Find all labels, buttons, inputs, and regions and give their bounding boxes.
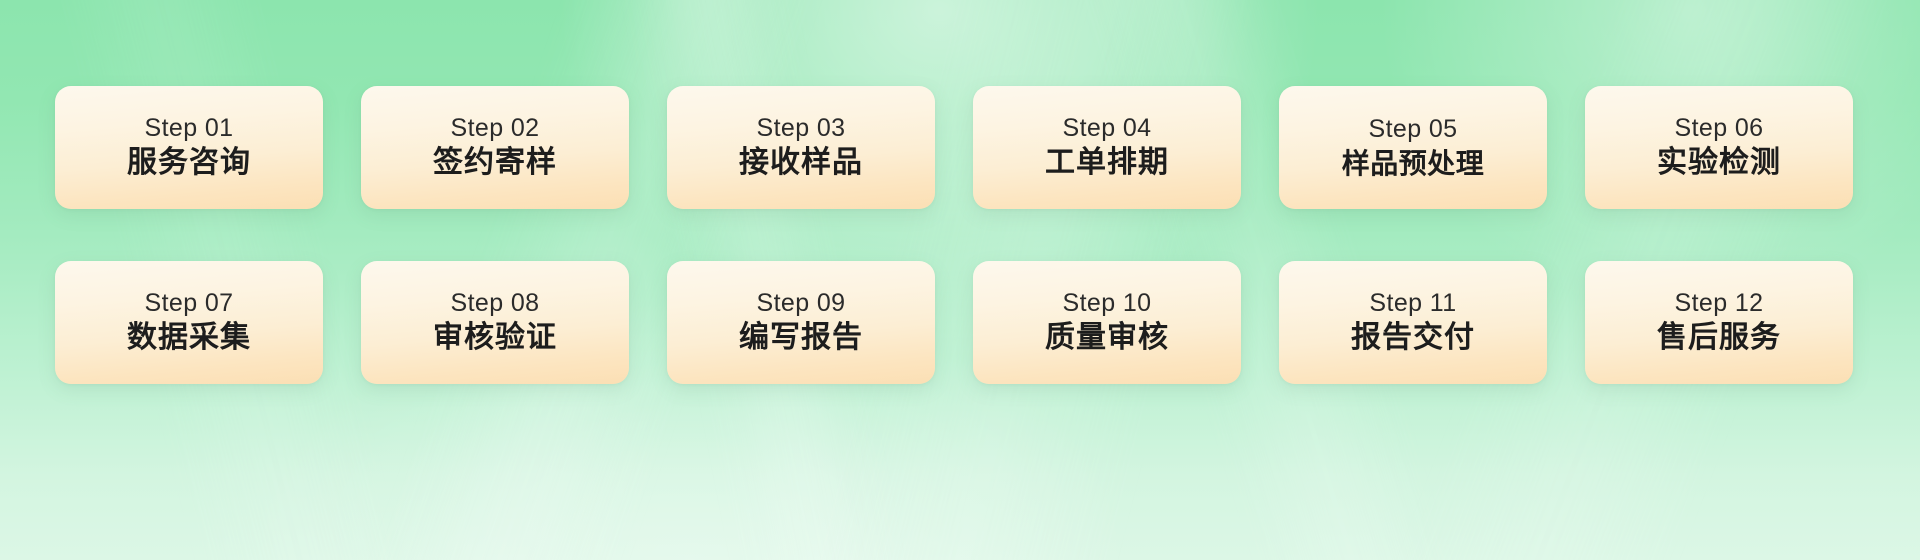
step-number: Step 09 — [757, 289, 846, 318]
step-label: 签约寄样 — [433, 145, 557, 181]
step-number: Step 03 — [757, 114, 846, 143]
step-number: Step 08 — [451, 289, 540, 318]
step-card-4[interactable]: Step 04工单排期 — [973, 86, 1241, 209]
step-label: 接收样品 — [739, 145, 863, 181]
step-card-11[interactable]: Step 11报告交付 — [1279, 261, 1547, 384]
step-label: 样品预处理 — [1342, 147, 1485, 181]
step-label: 数据采集 — [127, 320, 251, 356]
step-number: Step 05 — [1369, 115, 1458, 144]
step-card-3[interactable]: Step 03接收样品 — [667, 86, 935, 209]
step-number: Step 10 — [1063, 289, 1152, 318]
step-number: Step 01 — [145, 114, 234, 143]
step-card-12[interactable]: Step 12售后服务 — [1585, 261, 1853, 384]
step-card-1[interactable]: Step 01服务咨询 — [55, 86, 323, 209]
step-number: Step 11 — [1369, 289, 1456, 318]
step-number: Step 02 — [451, 114, 540, 143]
step-label: 售后服务 — [1657, 320, 1781, 356]
step-card-10[interactable]: Step 10质量审核 — [973, 261, 1241, 384]
step-label: 服务咨询 — [127, 145, 251, 181]
step-number: Step 06 — [1675, 114, 1764, 143]
step-label: 实验检测 — [1657, 145, 1781, 181]
step-label: 质量审核 — [1045, 320, 1169, 356]
step-card-5[interactable]: Step 05样品预处理 — [1279, 86, 1547, 209]
step-number: Step 04 — [1063, 114, 1152, 143]
step-card-7[interactable]: Step 07数据采集 — [55, 261, 323, 384]
step-card-6[interactable]: Step 06实验检测 — [1585, 86, 1853, 209]
process-step-grid: Step 01服务咨询Step 02签约寄样Step 03接收样品Step 04… — [55, 86, 1853, 384]
step-number: Step 07 — [145, 289, 234, 318]
step-card-9[interactable]: Step 09编写报告 — [667, 261, 935, 384]
step-label: 工单排期 — [1045, 145, 1169, 181]
step-card-2[interactable]: Step 02签约寄样 — [361, 86, 629, 209]
step-label: 报告交付 — [1351, 320, 1475, 356]
process-flow-banner: Step 01服务咨询Step 02签约寄样Step 03接收样品Step 04… — [0, 0, 1920, 560]
step-label: 审核验证 — [433, 320, 557, 356]
step-label: 编写报告 — [739, 320, 863, 356]
step-card-8[interactable]: Step 08审核验证 — [361, 261, 629, 384]
step-number: Step 12 — [1675, 289, 1764, 318]
